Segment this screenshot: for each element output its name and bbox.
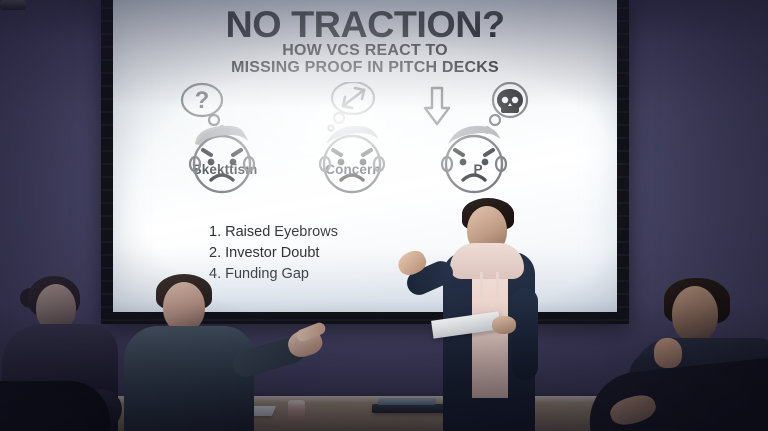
- down-arrow-icon: [425, 88, 449, 124]
- man-right-head: [672, 286, 718, 342]
- face-1-graphic: ?: [165, 82, 285, 210]
- slide-list-item-2: 2. Investor Doubt: [209, 243, 338, 264]
- slide-list-item-1: 1. Raised Eyebrows: [209, 222, 338, 243]
- slide-title: NO TRACTION?: [113, 4, 617, 46]
- reaction-face-1: ?: [165, 82, 285, 177]
- presenter-right-arm: [512, 288, 538, 380]
- reaction-faces-row: ?: [113, 82, 617, 212]
- presenter-holding-hand: [492, 316, 516, 334]
- hood-drawstring-right: [496, 272, 499, 302]
- foreground-figure-left: [0, 381, 110, 431]
- reaction-face-3: P: [418, 82, 538, 177]
- thought-bubble-1: ?: [165, 82, 285, 160]
- face-3-graphic: [418, 82, 538, 210]
- hood-drawstring-left: [480, 272, 483, 306]
- man-left-blazer: [124, 326, 254, 431]
- reaction-face-2: Concern: [293, 82, 413, 177]
- tablet: [372, 404, 448, 413]
- man-right-hand-on-chin: [654, 338, 682, 368]
- wristwatch: [0, 0, 26, 10]
- presenter-hood: [450, 243, 524, 279]
- face-2-graphic: [293, 82, 413, 210]
- question-mark-icon: ?: [195, 87, 210, 114]
- meeting-room-scene: NO TRACTION? HOW VCS REACT TO MISSING PR…: [0, 0, 768, 431]
- presentation-slide: NO TRACTION? HOW VCS REACT TO MISSING PR…: [113, 0, 617, 312]
- skull-icon: [497, 89, 523, 113]
- thought-bubble-3: [418, 82, 538, 160]
- slide-list-item-3: 4. Funding Gap: [209, 264, 338, 285]
- seated-man-right: [0, 0, 26, 10]
- man-left-head: [163, 282, 205, 332]
- coffee-cup-left: [288, 400, 305, 422]
- projection-screen: NO TRACTION? HOW VCS REACT TO MISSING PR…: [113, 0, 617, 312]
- thought-bubble-2: [293, 82, 413, 160]
- slide-numbered-list: 1. Raised Eyebrows 2. Investor Doubt 4. …: [209, 222, 338, 285]
- slide-subtitle-line1: HOW VCS REACT TO: [113, 42, 617, 60]
- diagonal-double-arrow-icon: [343, 88, 364, 108]
- notebook: [377, 398, 437, 405]
- slide-subtitle-line2: MISSING PROOF IN PITCH DECKS: [113, 59, 617, 77]
